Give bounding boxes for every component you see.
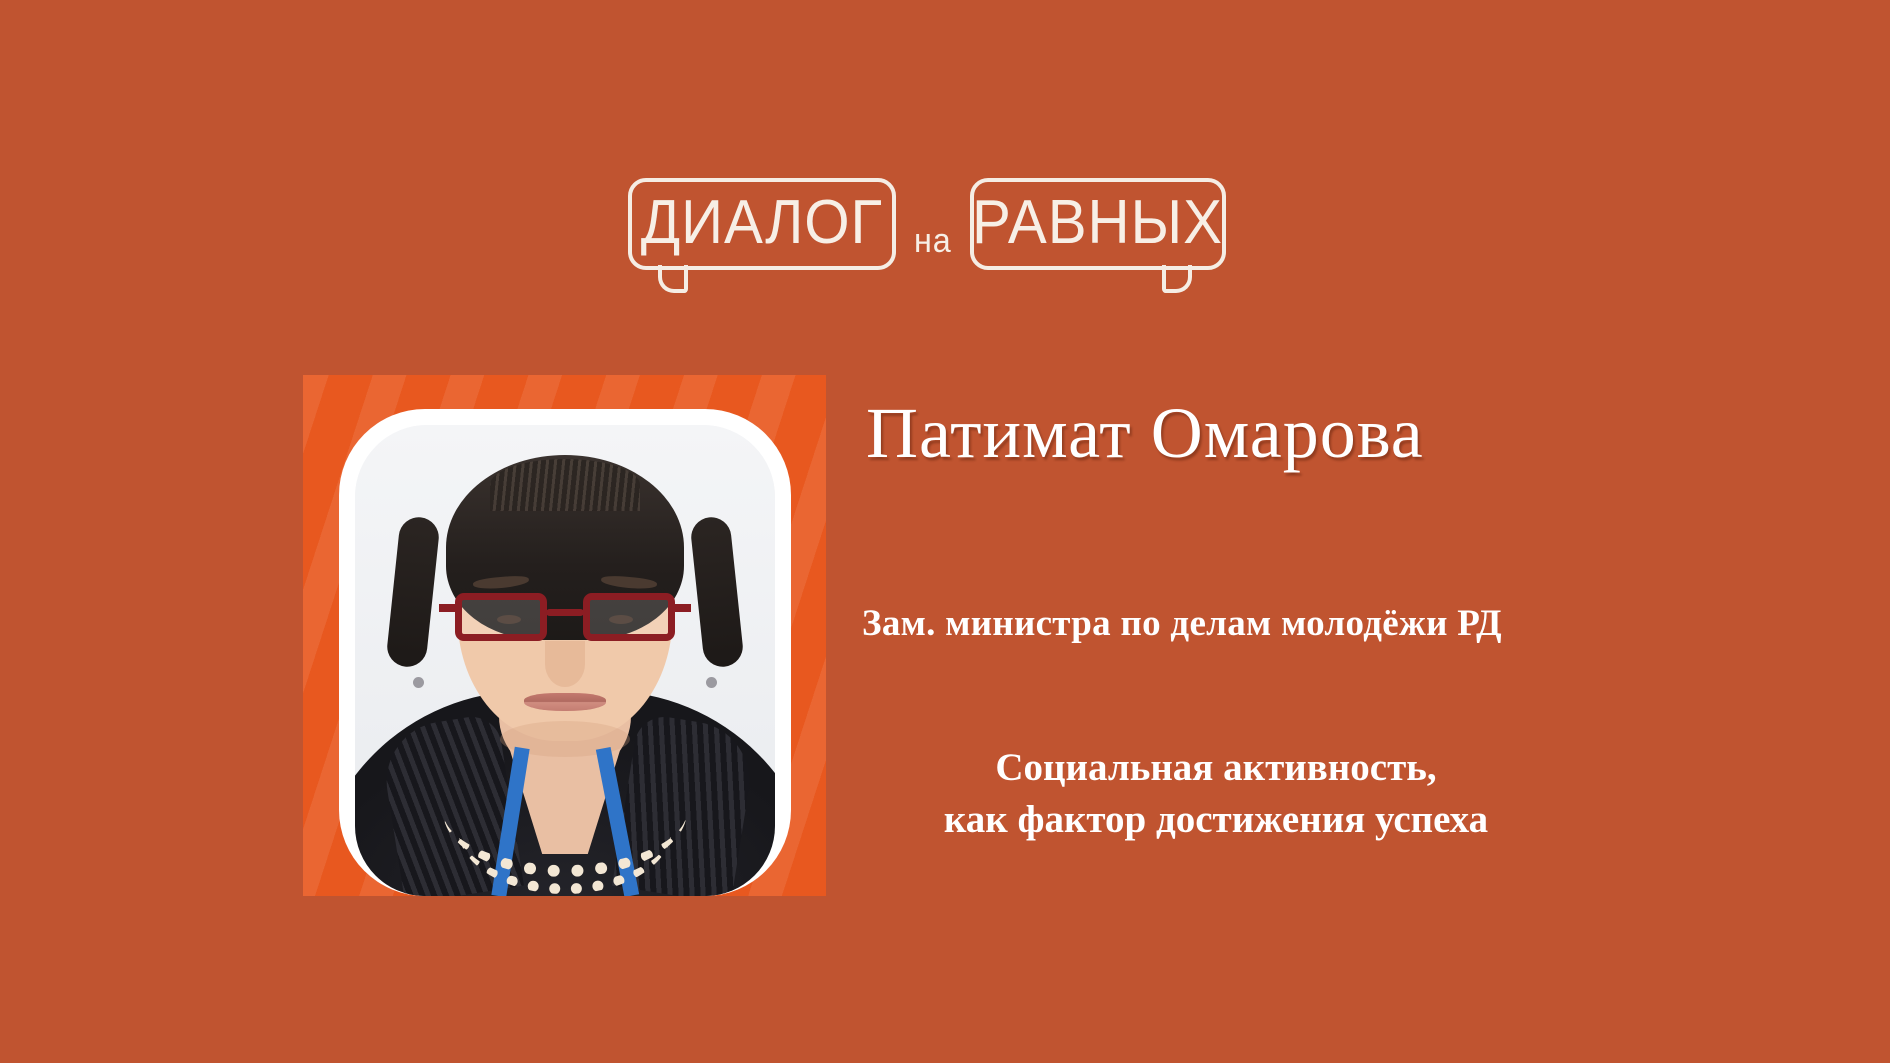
glasses-temple-right	[675, 604, 691, 612]
logo-bubble-dialog: ДИАЛОГ	[628, 178, 896, 270]
portrait-earring-left	[413, 677, 424, 688]
speaker-name: Патимат Омарова	[866, 392, 1424, 475]
speaker-photo-card	[303, 375, 826, 896]
portrait-pearl-necklace-inner	[458, 763, 672, 894]
event-announcement-slide: ДИАЛОГ на РАВНЫХ	[0, 0, 1890, 1063]
portrait-nose	[545, 641, 585, 687]
logo-word-dialog: ДИАЛОГ	[641, 192, 883, 257]
speaker-portrait	[355, 425, 775, 896]
portrait-hair-part	[490, 459, 640, 511]
portrait-hair-right	[689, 515, 744, 668]
glasses-lens-right	[583, 593, 675, 641]
glasses-lens-left	[455, 593, 547, 641]
glasses-temple-left	[439, 604, 455, 612]
portrait-illustration	[355, 425, 775, 896]
talk-topic: Социальная активность, как фактор достиж…	[866, 742, 1566, 846]
portrait-earring-right	[706, 677, 717, 688]
talk-topic-line-2: как фактор достижения успеха	[866, 794, 1566, 846]
dialog-na-ravnyh-logo: ДИАЛОГ на РАВНЫХ	[628, 178, 1268, 298]
logo-word-ravnyh: РАВНЫХ	[972, 192, 1223, 257]
portrait-hair-left	[385, 515, 440, 668]
speech-bubble-tail-icon	[1162, 265, 1196, 295]
talk-topic-line-1: Социальная активность,	[866, 742, 1566, 794]
logo-bubble-ravnyh: РАВНЫХ	[970, 178, 1226, 270]
portrait-glasses-icon	[447, 593, 683, 645]
glasses-bridge	[546, 609, 584, 616]
speaker-role: Зам. министра по делам молодёжи РД	[862, 602, 1502, 645]
portrait-mouth	[524, 693, 606, 711]
logo-word-na: на	[914, 178, 952, 261]
speech-bubble-tail-icon	[658, 265, 692, 295]
